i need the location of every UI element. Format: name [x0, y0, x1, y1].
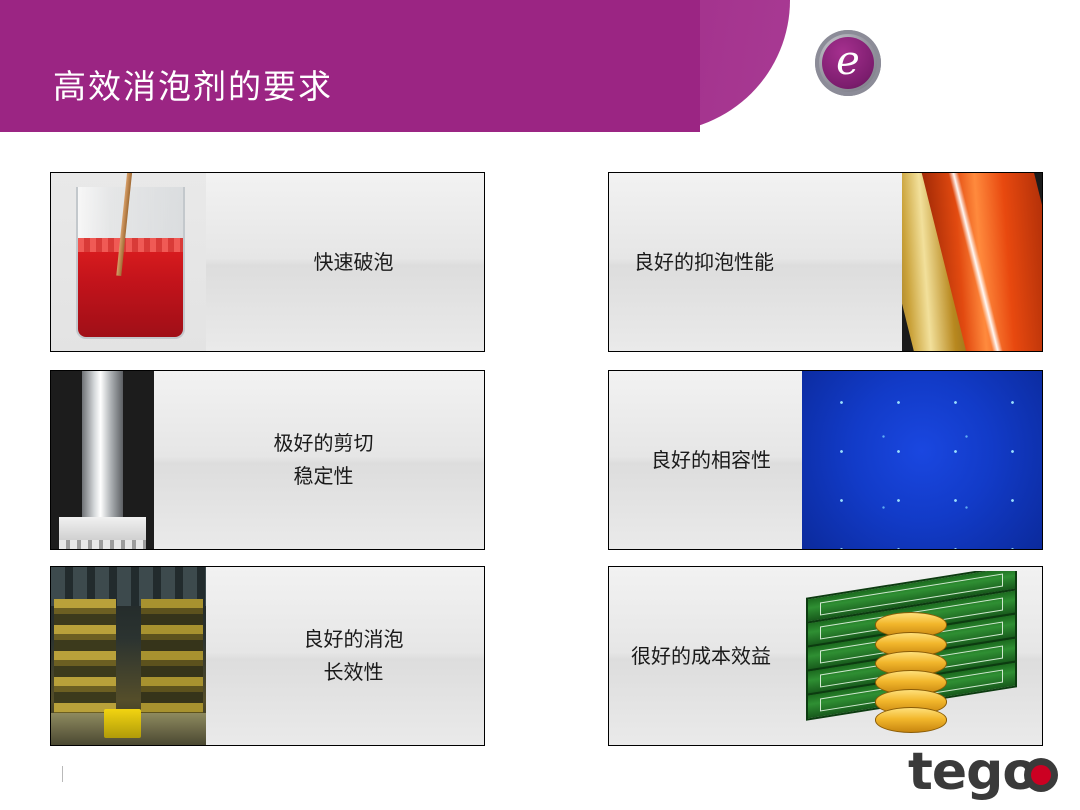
beaker-glass-shape	[76, 187, 185, 339]
warehouse-racking-photo	[51, 567, 206, 745]
header-purple-band: 高效消泡剂的要求	[0, 0, 790, 132]
card-good-foam-inhibition: 良好的抑泡性能	[608, 172, 1043, 352]
evonik-tagline: I N D U S T R I E S	[937, 82, 1055, 108]
card-label-good-foam-inhibition: 良好的抑泡性能	[634, 173, 914, 351]
warehouse-forklift	[104, 709, 141, 737]
card-label-long-lasting-defoaming: 良好的消泡 长效性	[226, 567, 481, 745]
red-liquid-beaker-photo	[51, 173, 206, 351]
evonik-wordmark: evonik	[893, 38, 1041, 82]
tego-dot-inner	[1031, 765, 1051, 785]
tego-wordmark: tego	[908, 746, 1037, 798]
beaker-foam-layer	[78, 238, 183, 252]
shear-tube	[82, 371, 123, 521]
card-fast-defoaming: 快速破泡	[50, 172, 485, 352]
beaker-red-liquid	[78, 238, 183, 337]
money-stack-coins-illustration	[796, 571, 1036, 743]
gold-orange-coated-rolls-photo	[902, 173, 1042, 351]
card-label-excellent-shear-stability: 极好的剪切 稳定性	[171, 371, 476, 549]
card-good-cost-effectiveness: 很好的成本效益	[608, 566, 1043, 746]
shear-test-device-photo	[51, 371, 154, 549]
slide-header: 高效消泡剂的要求 e evonik I N D U S T R I E S	[0, 0, 1080, 132]
footer-tick-mark	[62, 766, 63, 782]
evonik-mark-letter: e	[836, 41, 860, 81]
card-excellent-shear-stability: 极好的剪切 稳定性	[50, 370, 485, 550]
coin-stack	[875, 612, 947, 732]
page-title: 高效消泡剂的要求	[53, 60, 333, 108]
card-good-compatibility: 良好的相容性	[608, 370, 1043, 550]
shear-teeth	[59, 540, 146, 549]
evonik-e-mark-icon: e	[815, 30, 881, 96]
card-label-fast-defoaming: 快速破泡	[226, 173, 481, 351]
tego-logo: tego	[908, 738, 1058, 798]
coin	[875, 707, 947, 732]
tego-dot-icon	[1024, 758, 1058, 792]
card-label-good-compatibility: 良好的相容性	[651, 371, 911, 549]
evonik-mark-inner: e	[822, 37, 874, 89]
warehouse-rack-left	[54, 599, 116, 716]
evonik-logo: e evonik I N D U S T R I E S	[815, 30, 1055, 102]
card-long-lasting-defoaming: 良好的消泡 长效性	[50, 566, 485, 746]
warehouse-rack-right	[141, 599, 203, 716]
